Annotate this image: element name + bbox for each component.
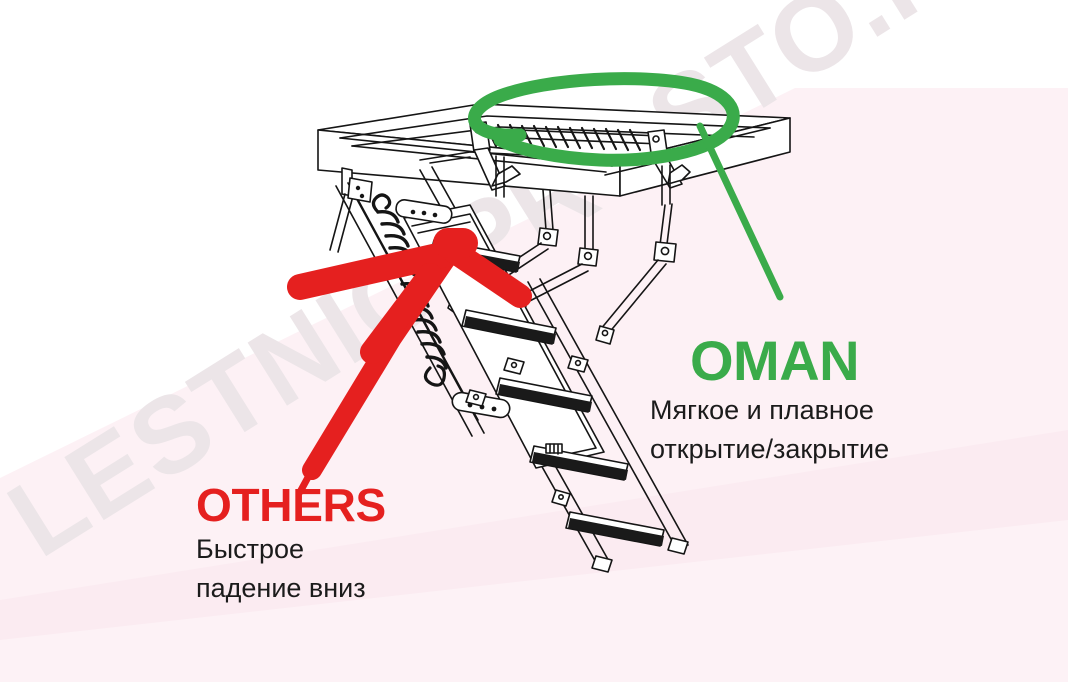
others-brand-label: OTHERS	[196, 478, 386, 532]
oman-description-line-1: Мягкое и плавное	[650, 395, 874, 426]
red-arrow-barb-right	[455, 252, 520, 296]
infographic-canvas: LESTNIC-PROSTO.RU	[0, 0, 1068, 682]
others-description-line-2: падение вниз	[196, 573, 366, 604]
oman-brand-label: OMAN	[690, 328, 859, 393]
oman-description-line-2: открытие/закрытие	[650, 434, 889, 465]
others-description-line-1: Быстрое	[196, 534, 304, 565]
red-annotation-layer	[0, 0, 1068, 682]
